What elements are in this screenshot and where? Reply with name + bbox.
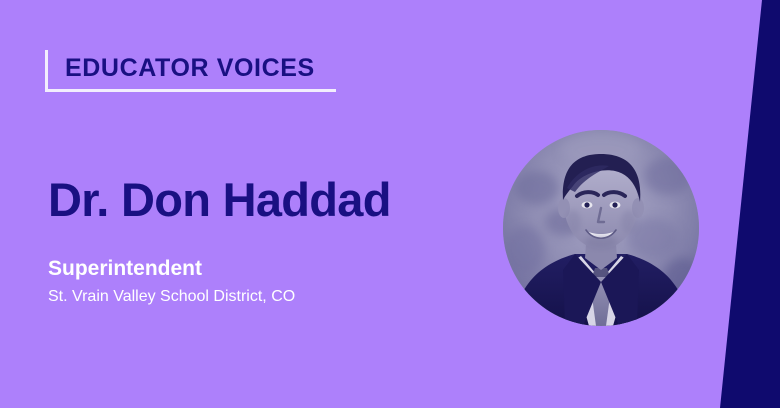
speaker-portrait (503, 130, 699, 326)
portrait-illustration (503, 130, 699, 326)
speaker-name: Dr. Don Haddad (48, 172, 391, 228)
educator-voices-card: EDUCATOR VOICES Dr. Don Haddad Superinte… (0, 0, 780, 408)
kicker-label: EDUCATOR VOICES (65, 52, 315, 84)
speaker-organization: St. Vrain Valley School District, CO (48, 286, 295, 308)
diagonal-accent-wedge (720, 0, 780, 408)
speaker-role: Superintendent (48, 255, 202, 282)
